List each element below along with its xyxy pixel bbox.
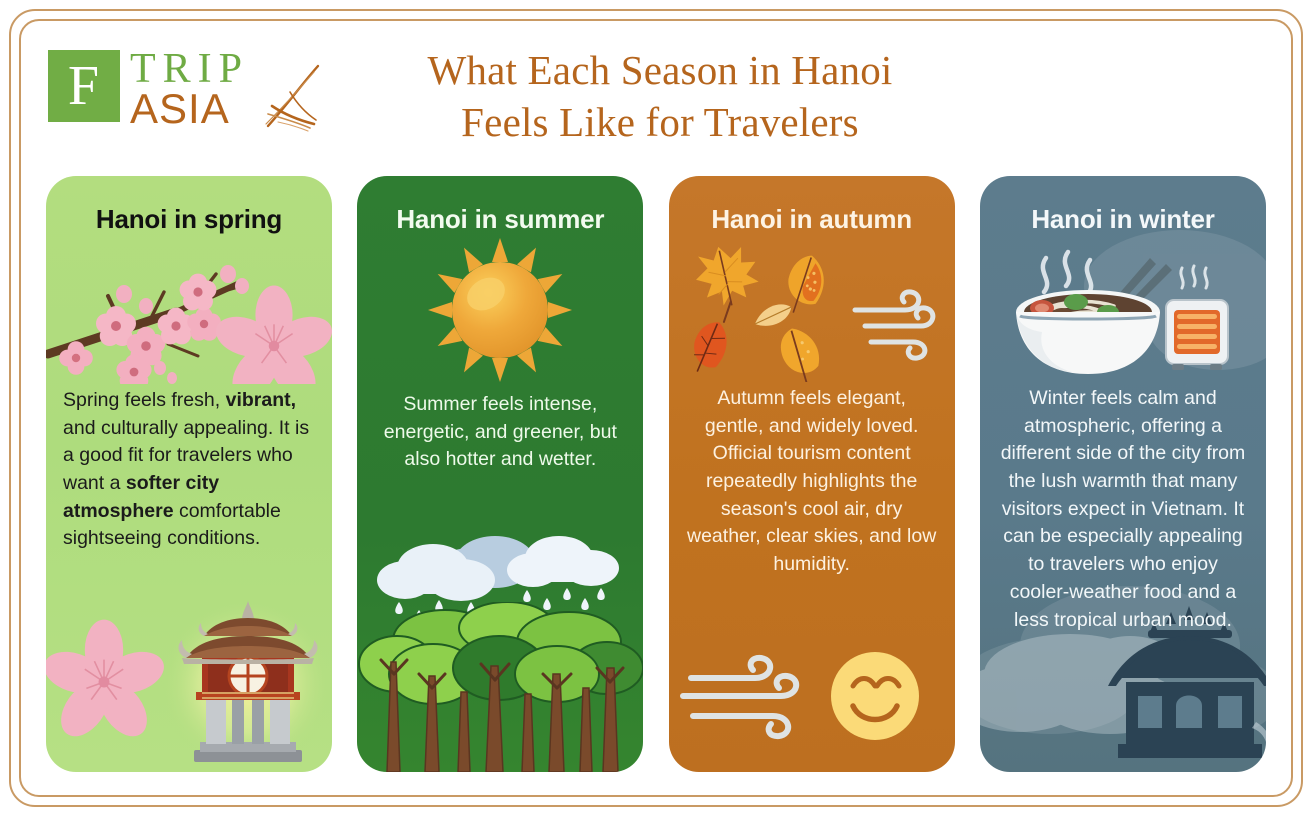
panel-title-winter: Hanoi in winter [1031,204,1214,235]
brush-stroke-icon [238,62,324,134]
wind-icon [855,292,933,358]
panel-text-summer: Summer feels intense, energetic, and gre… [374,391,626,474]
wind-icon [683,658,796,736]
spring-bottom-art [46,592,332,772]
autumn-bottom-art [669,632,955,772]
page-title-line1: What Each Season in Hanoi [340,44,980,96]
cherry-blossom-flower-icon [46,620,169,745]
smiling-face-icon [831,652,919,740]
falling-leaves-icon [669,232,955,382]
page-title-line2: Feels Like for Travelers [340,96,980,148]
logo-text-asia: ASIA [130,88,230,130]
panel-title-spring: Hanoi in spring [96,204,282,235]
panel-title-autumn: Hanoi in autumn [711,204,912,235]
steam-icon [1043,252,1091,294]
brand-logo[interactable]: F TRIP ASIA [48,48,296,140]
spring-run-1: vibrant, [226,389,296,411]
panel-winter[interactable]: Hanoi in winter [980,176,1266,772]
logo-mark-icon: F [48,50,120,122]
glow-halo [160,598,332,770]
panel-spring[interactable]: Hanoi in spring Spring feels fresh, vibr… [46,176,332,772]
page-title: What Each Season in Hanoi Feels Like for… [340,44,980,149]
fog-icon [980,634,1180,734]
spring-run-0: Spring feels fresh, [63,389,226,411]
panel-autumn[interactable]: Hanoi in autumn [669,176,955,772]
panel-text-winter: Winter feels calm and atmospheric, offer… [997,385,1249,634]
rain-cloud-icon [357,528,643,658]
infographic-page: F TRIP ASIA What Each Season in Hanoi Fe… [0,0,1312,816]
forest-trees-icon [357,602,643,772]
winter-top-art [980,232,1266,384]
logo-text-trip: TRIP [130,48,249,90]
panel-title-summer: Hanoi in summer [396,204,604,235]
space-heater-icon [1166,266,1228,370]
vietnamese-temple-gate-icon [179,600,318,762]
logo-mark-letter: F [68,58,100,114]
chopsticks-icon [1098,258,1172,324]
season-panels: Hanoi in spring Spring feels fresh, vibr… [46,176,1266,772]
pho-bowl-icon [1016,290,1160,374]
panel-text-spring: Spring feels fresh, vibrant, and cultura… [63,387,315,553]
panel-text-autumn: Autumn feels elegant, gentle, and widely… [686,385,938,579]
panel-summer[interactable]: Hanoi in summer [357,176,643,772]
header: F TRIP ASIA What Each Season in Hanoi Fe… [0,0,1312,168]
sun-icon [357,234,643,384]
